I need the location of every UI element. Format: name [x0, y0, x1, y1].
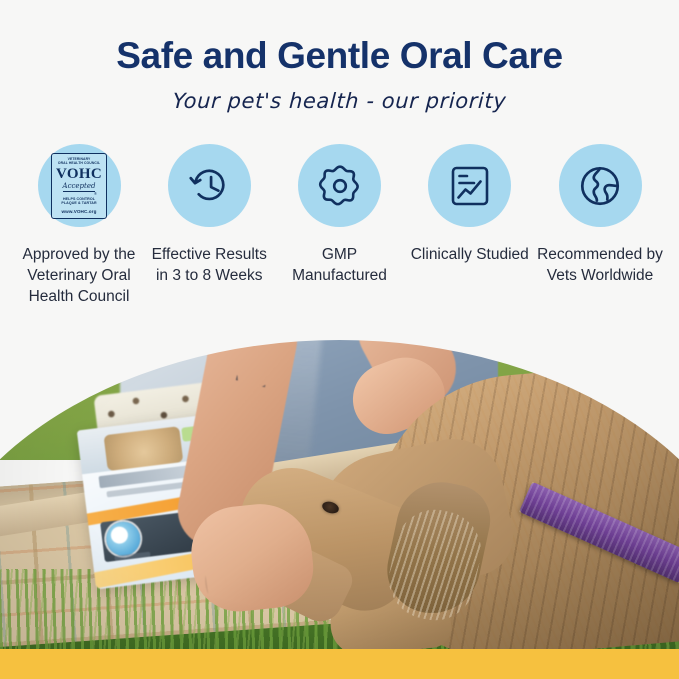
gear-icon: [315, 161, 365, 211]
feature-vohc-approved: VETERINARY ORAL HEALTH COUNCIL VOHC Acce…: [16, 144, 142, 308]
vohc-acronym: VOHC: [56, 167, 102, 182]
feature-label: Recommended by Vets Worldwide: [537, 245, 663, 287]
feature-label: GMP Manufactured: [277, 245, 403, 287]
feature-label: Effective Results in 3 to 8 Weeks: [146, 245, 272, 287]
feature-row: VETERINARY ORAL HEALTH COUNCIL VOHC Acce…: [16, 144, 663, 308]
lifestyle-photo-dog-with-treat: [0, 330, 679, 649]
vohc-accepted-text: Accepted: [63, 183, 96, 192]
feature-effective-results: Effective Results in 3 to 8 Weeks: [146, 144, 272, 287]
lifestyle-photo: [0, 330, 679, 649]
feature-gmp-manufactured: GMP Manufactured: [277, 144, 403, 287]
vohc-seal-icon: VETERINARY ORAL HEALTH COUNCIL VOHC Acce…: [51, 153, 107, 219]
clock-history-icon: [184, 161, 234, 211]
vohc-sub-line-2: PLAQUE & TARTAR: [61, 201, 96, 206]
badge-circle: [428, 144, 511, 227]
page-title: Safe and Gentle Oral Care: [0, 36, 679, 77]
feature-recommended-by-vets: Recommended by Vets Worldwide: [537, 144, 663, 287]
feature-label: Approved by the Veterinary Oral Health C…: [16, 245, 142, 308]
badge-circle: [559, 144, 642, 227]
header: Safe and Gentle Oral Care Your pet's hea…: [0, 0, 679, 113]
product-feature-graphic: Safe and Gentle Oral Care Your pet's hea…: [0, 0, 679, 679]
feature-label: Clinically Studied: [411, 245, 529, 266]
chart-report-icon: [446, 162, 494, 210]
bottom-accent-bar: [0, 649, 679, 679]
badge-circle: [168, 144, 251, 227]
photo-bag-dog-image: [104, 426, 184, 471]
badge-circle: [298, 144, 381, 227]
vohc-registered-mark: ®: [94, 192, 97, 196]
page-subtitle: Your pet's health - our priority: [0, 89, 679, 113]
badge-circle: VETERINARY ORAL HEALTH COUNCIL VOHC Acce…: [38, 144, 121, 227]
vohc-url-text: www.VOHC.org: [62, 209, 97, 214]
vohc-top-line-2: ORAL HEALTH COUNCIL: [58, 161, 100, 165]
globe-icon: [575, 161, 625, 211]
feature-clinically-studied: Clinically Studied: [407, 144, 533, 266]
